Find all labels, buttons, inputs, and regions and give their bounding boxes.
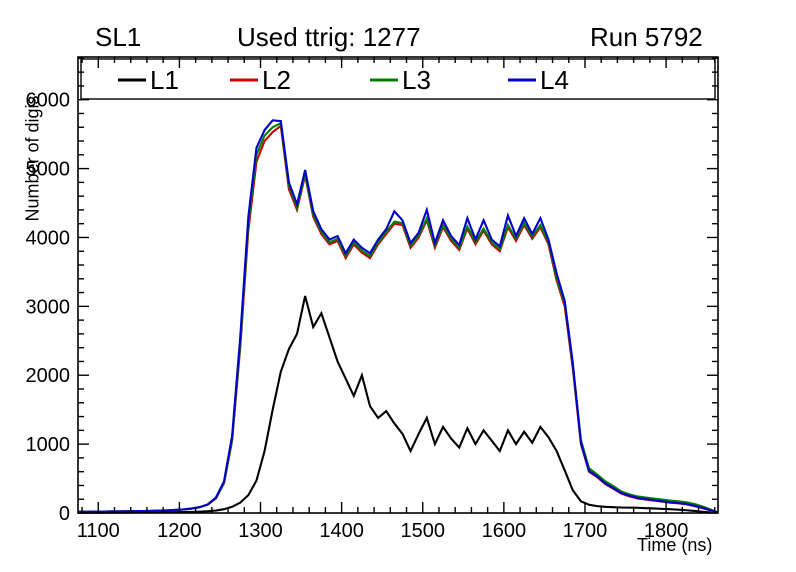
series-line-L3 xyxy=(78,123,718,512)
x-tick-label: 1100 xyxy=(77,520,120,542)
series-line-L2 xyxy=(78,126,718,513)
run-number-label: Run 5792 xyxy=(590,22,703,53)
series-line-L1 xyxy=(78,296,711,513)
y-tick-label: 1000 xyxy=(26,434,71,456)
x-tick-label: 1200 xyxy=(157,520,202,542)
y-tick-label: 3000 xyxy=(26,296,71,318)
superlayer-label: SL1 xyxy=(95,22,141,53)
x-tick-label: 1500 xyxy=(400,520,445,542)
x-axis-title: Time (ns) xyxy=(637,535,712,556)
x-tick-label: 1600 xyxy=(482,520,527,542)
series-line-L4 xyxy=(78,120,718,512)
legend-label-L1: L1 xyxy=(150,65,179,95)
x-tick-label: 1700 xyxy=(563,520,608,542)
legend-label-L4: L4 xyxy=(540,65,569,95)
chart-canvas: 1100120013001400150016001700180001000200… xyxy=(0,0,796,572)
legend-label-L2: L2 xyxy=(262,65,291,95)
y-tick-label: 2000 xyxy=(26,365,71,387)
used-ttrig-label: Used ttrig: 1277 xyxy=(237,22,421,53)
legend-label-L3: L3 xyxy=(402,65,431,95)
y-axis-title: Number of digis xyxy=(23,79,44,239)
chart-root: 1100120013001400150016001700180001000200… xyxy=(0,0,796,572)
x-tick-label: 1300 xyxy=(238,520,283,542)
x-tick-label: 1400 xyxy=(319,520,364,542)
y-tick-label: 0 xyxy=(59,503,70,525)
plot-frame xyxy=(78,57,718,513)
